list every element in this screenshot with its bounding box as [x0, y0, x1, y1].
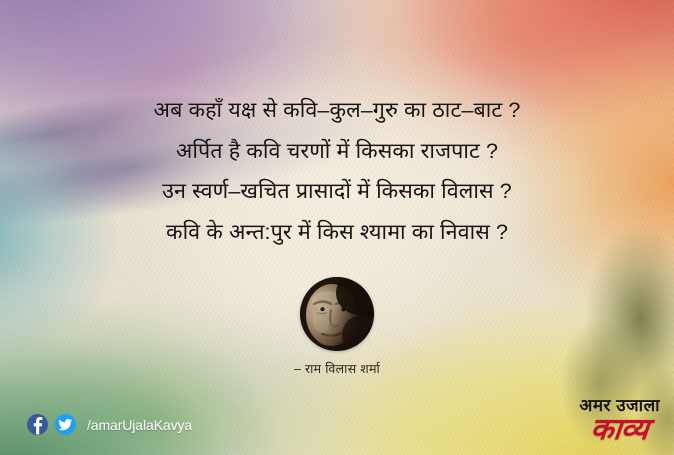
author-portrait-wrapper	[300, 277, 374, 351]
facebook-glyph	[27, 414, 48, 435]
portrait-illustration	[300, 277, 374, 351]
brand-logo: अमर उजाला काव्य	[579, 397, 660, 445]
poetry-poster: अब कहाँ यक्ष से कवि–कुल–गुरु का ठाट–बाट …	[0, 0, 674, 455]
poem-line-3: उन स्वर्ण–खचित प्रासादों में किसका विलास…	[0, 181, 674, 203]
twitter-icon[interactable]	[55, 414, 76, 435]
social-bar: /amarUjalaKavya	[27, 414, 192, 435]
poem-line-1: अब कहाँ यक्ष से कवि–कुल–गुरु का ठाट–बाट …	[0, 100, 674, 122]
poem-line-2: अर्पित है कवि चरणों में किसका राजपाट ?	[0, 141, 674, 163]
poem-text-block: अब कहाँ यक्ष से कवि–कुल–गुरु का ठाट–बाट …	[0, 100, 674, 262]
facebook-icon[interactable]	[27, 414, 48, 435]
brand-logo-primary: अमर उजाला	[579, 397, 660, 414]
poem-line-4: कवि के अन्त:पुर में किस श्यामा का निवास …	[0, 222, 674, 244]
author-attribution: – राम विलास शर्मा	[0, 360, 674, 377]
brand-logo-secondary: काव्य	[578, 415, 662, 445]
twitter-bird-glyph	[55, 414, 76, 435]
author-portrait	[300, 277, 374, 351]
social-handle-text: /amarUjalaKavya	[87, 417, 192, 433]
